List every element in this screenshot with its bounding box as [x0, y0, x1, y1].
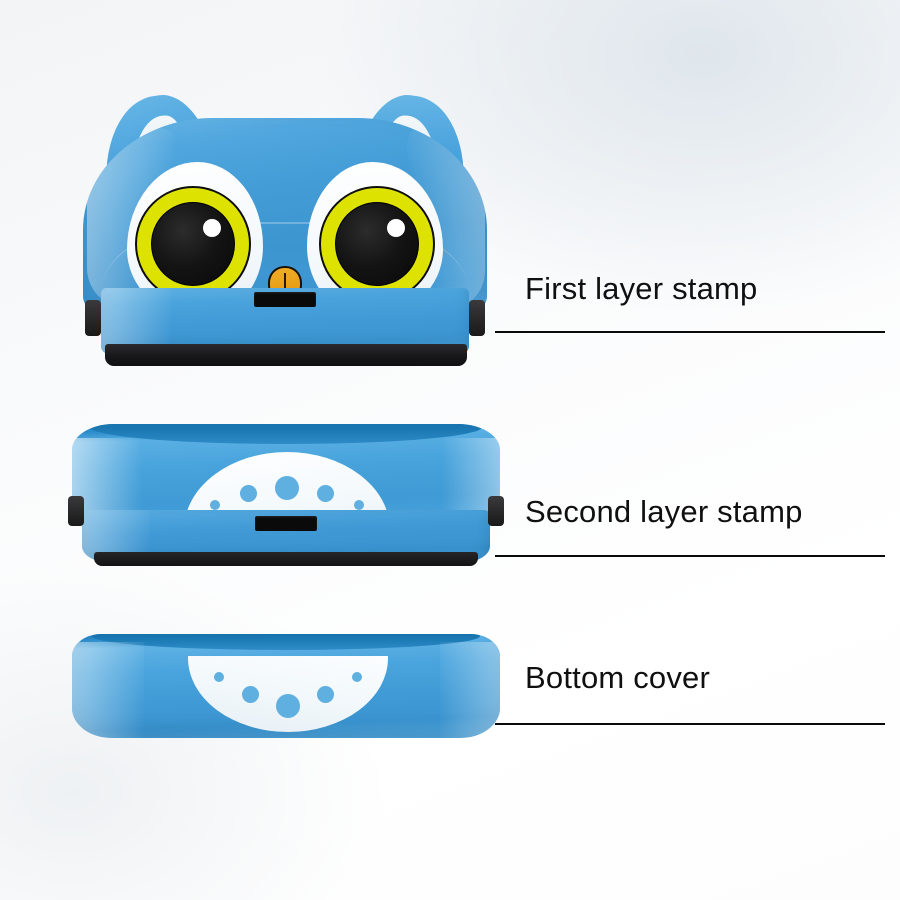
first-layer-stamp-part — [75, 92, 495, 372]
bottom-cover-highlight-right — [440, 642, 500, 738]
cover-dot-5 — [352, 672, 362, 682]
bottom-cover-dome-decal — [188, 656, 388, 732]
owl-left-pupil — [151, 202, 235, 286]
cover-dot-2 — [242, 686, 259, 703]
dome-dot-5 — [354, 500, 364, 510]
callout-label-second-layer-stamp: Second layer stamp — [525, 494, 803, 530]
first-layer-ink-slot — [254, 292, 316, 307]
owl-right-eye-icon — [319, 186, 435, 302]
second-layer-side-tab-left — [68, 496, 84, 526]
second-layer-base-plate — [94, 552, 478, 566]
second-layer-ink-slot — [255, 516, 317, 531]
owl-left-eye-icon — [135, 186, 251, 302]
dome-dot-2 — [240, 485, 257, 502]
second-layer-cavity — [90, 424, 482, 444]
dome-dot-1 — [210, 500, 220, 510]
first-layer-base-plate — [105, 344, 467, 366]
stamp-side-tab-right — [469, 300, 485, 336]
cover-dot-1 — [214, 672, 224, 682]
dome-dot-3 — [275, 476, 299, 500]
dome-dot-4 — [317, 485, 334, 502]
callout-line-bottom-cover — [495, 723, 885, 725]
cover-dot-3 — [276, 694, 300, 718]
owl-right-eye-glint — [387, 219, 405, 237]
cover-dot-4 — [317, 686, 334, 703]
stamp-side-tab-left — [85, 300, 101, 336]
callout-line-first-layer-stamp — [495, 331, 885, 333]
owl-right-pupil — [335, 202, 419, 286]
callout-label-first-layer-stamp: First layer stamp — [525, 271, 758, 307]
bottom-cover-cavity — [92, 634, 480, 650]
bottom-cover-part — [72, 634, 500, 746]
second-layer-side-tab-right — [488, 496, 504, 526]
owl-head-dome — [83, 118, 487, 316]
second-layer-stamp-part — [72, 424, 500, 574]
product-image-canvas: First layer stamp Second layer stamp Bot… — [0, 0, 900, 900]
bottom-cover-highlight-left — [72, 642, 144, 738]
bottom-cover-body — [72, 634, 500, 738]
callout-label-bottom-cover: Bottom cover — [525, 660, 710, 696]
callout-line-second-layer-stamp — [495, 555, 885, 557]
owl-left-eye-glint — [203, 219, 221, 237]
